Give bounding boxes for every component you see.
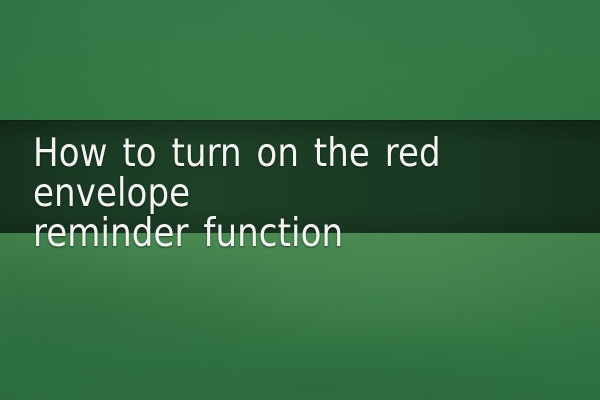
slide-title: How to turn on the red envelope reminder… [33,134,565,254]
slide-canvas: How to turn on the red envelope reminder… [0,0,600,400]
